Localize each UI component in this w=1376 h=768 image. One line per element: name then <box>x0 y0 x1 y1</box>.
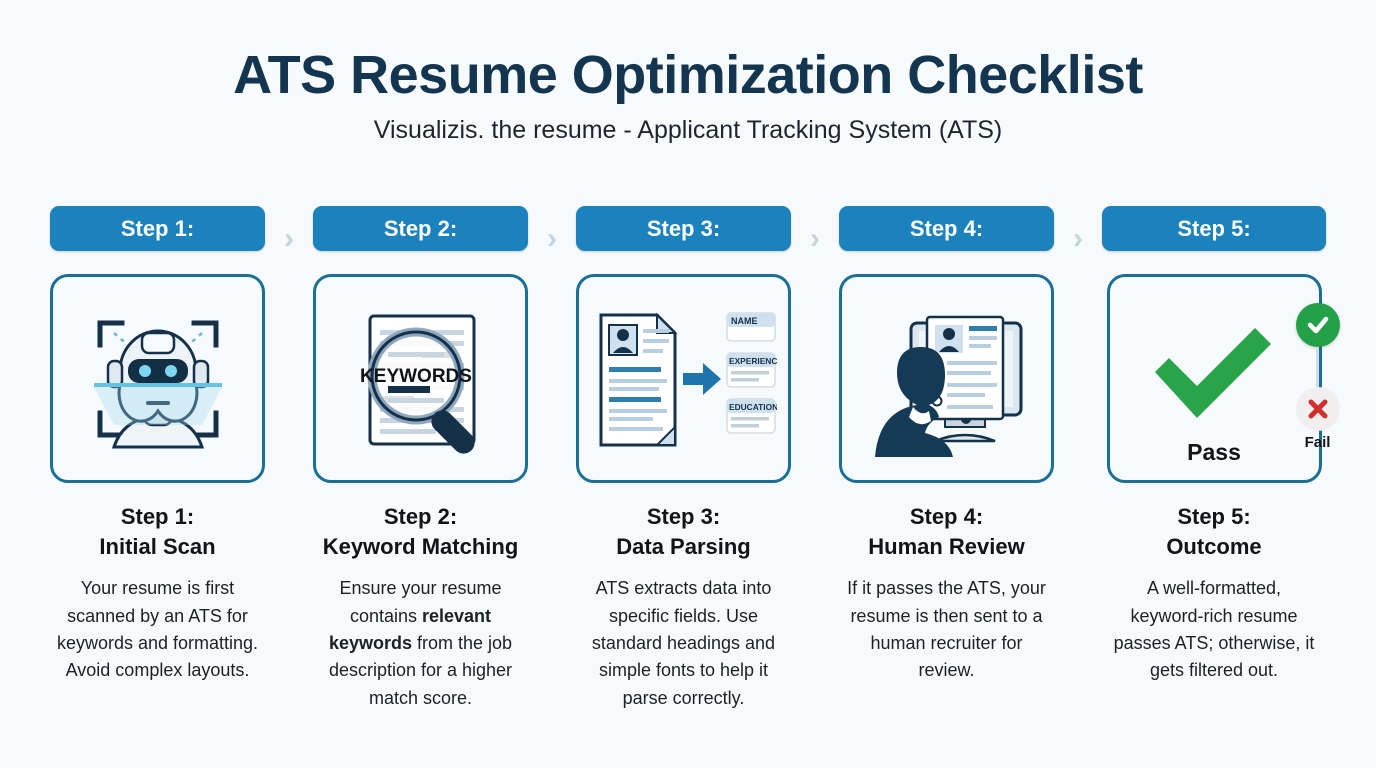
step-card-4 <box>839 274 1054 483</box>
document-magnifier-keywords-icon: KEYWORDS <box>336 294 506 464</box>
step-column-1: Step 1: <box>50 206 265 685</box>
pass-check-badge-icon <box>1296 303 1340 347</box>
pass-label: Pass <box>1110 439 1319 466</box>
step-caption-body-3: ATS extracts data into specific fields. … <box>579 575 789 712</box>
step-column-2: Step 2: <box>313 206 528 712</box>
step-caption-title-5: Step 5: Outcome <box>1166 502 1261 561</box>
step-caption-body-4: If it passes the ATS, your resume is the… <box>842 575 1052 684</box>
infographic-header: ATS Resume Optimization Checklist Visual… <box>0 0 1376 145</box>
badge-connector-line <box>1316 347 1319 387</box>
separator-chevron-2: › <box>528 206 576 254</box>
step-caption-body-1: Your resume is first scanned by an ATS f… <box>53 575 263 684</box>
svg-text:NAME: NAME <box>731 316 758 326</box>
separator-chevron-1: › <box>265 206 313 254</box>
step-pill-4[interactable]: Step 4: <box>839 206 1054 251</box>
step-column-4: Step 4: <box>839 206 1054 685</box>
step-caption-title-4: Step 4: Human Review <box>868 502 1025 561</box>
page-title: ATS Resume Optimization Checklist <box>0 46 1376 104</box>
step-column-3: Step 3: <box>576 206 791 712</box>
body-text: Your resume is first scanned by an ATS f… <box>57 578 258 680</box>
step-pill-3[interactable]: Step 3: <box>576 206 791 251</box>
recruiter-monitor-review-icon <box>857 295 1037 463</box>
step-caption-title-2: Step 2: Keyword Matching <box>323 502 519 561</box>
step-column-5: Step 5: Pass Fa <box>1102 206 1326 685</box>
step-card-1 <box>50 274 265 483</box>
step-pill-2[interactable]: Step 2: <box>313 206 528 251</box>
step-pill-1[interactable]: Step 1: <box>50 206 265 251</box>
fail-cross-badge-icon <box>1296 387 1340 431</box>
body-text: A well-formatted, keyword-rich resume pa… <box>1114 578 1315 680</box>
fail-label: Fail <box>1305 434 1331 451</box>
svg-text:EDUCATION: EDUCATION <box>729 402 777 412</box>
separator-chevron-3: › <box>791 206 839 254</box>
step-pill-5[interactable]: Step 5: <box>1102 206 1326 251</box>
step-card-5: Pass Fail <box>1107 274 1322 483</box>
step-caption-title-1: Step 1: Initial Scan <box>99 502 215 561</box>
step-card-3: NAME EXPERIENCE EDUCATION <box>576 274 791 483</box>
svg-text:EXPERIENCE: EXPERIENCE <box>729 356 777 366</box>
step-caption-body-2: Ensure your resume contains relevant key… <box>316 575 526 712</box>
body-text: If it passes the ATS, your resume is the… <box>847 578 1046 680</box>
outcome-badges: Fail <box>1291 303 1345 451</box>
robot-face-scan-icon <box>74 295 242 463</box>
svg-text:KEYWORDS: KEYWORDS <box>360 366 472 387</box>
page-subtitle: Visualizis. the resume - Applicant Track… <box>0 116 1376 145</box>
step-caption-title-3: Step 3: Data Parsing <box>616 502 751 561</box>
pass-fail-checkmark-icon <box>1139 310 1289 448</box>
resume-to-fields-icon: NAME EXPERIENCE EDUCATION <box>591 299 777 459</box>
steps-flow: Step 1: <box>50 206 1326 712</box>
step-card-2: KEYWORDS <box>313 274 528 483</box>
body-text: ATS extracts data into specific fields. … <box>592 578 775 707</box>
separator-chevron-4: › <box>1054 206 1102 254</box>
step-caption-body-5: A well-formatted, keyword-rich resume pa… <box>1109 575 1319 684</box>
